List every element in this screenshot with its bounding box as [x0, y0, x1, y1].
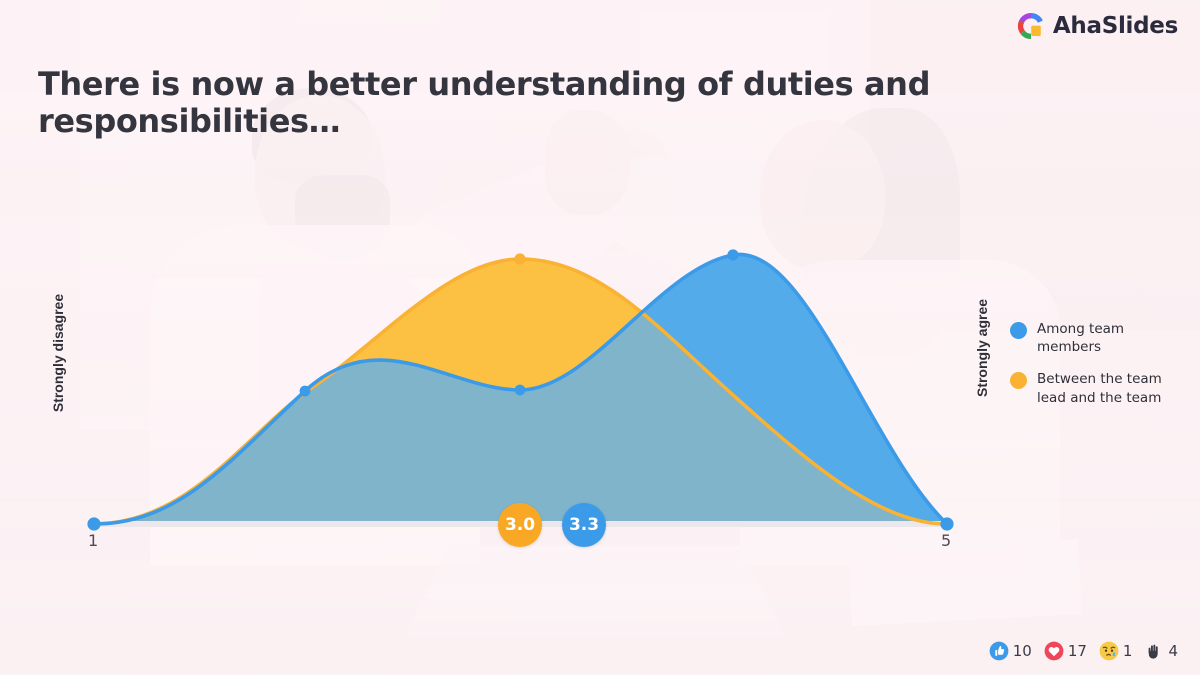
reaction-count: 1 [1123, 642, 1133, 660]
reaction-like[interactable]: 10 [989, 641, 1032, 661]
reaction-love[interactable]: 17 [1044, 641, 1087, 661]
reaction-bar: 10 17 1 [989, 641, 1178, 661]
raised-hand-icon [1144, 641, 1164, 661]
brand-name: AhaSlides [1053, 13, 1178, 39]
page-title: There is now a better understanding of d… [38, 66, 1140, 140]
legend-dot-blue-icon [1010, 322, 1027, 339]
axis-label-max: Strongly agree [974, 278, 990, 418]
x-tick-1: 1 [88, 531, 98, 550]
data-point-endpoint-right [940, 517, 953, 530]
reaction-count: 10 [1013, 642, 1032, 660]
legend-item-between-lead-and-team[interactable]: Between the team lead and the team [1010, 370, 1182, 406]
ahaslides-donut-logo-icon [1017, 12, 1045, 40]
score-badge-blue[interactable]: 3.3 [562, 503, 606, 547]
legend-label: Between the team lead and the team [1037, 370, 1182, 406]
brand-logo: AhaSlides [1017, 12, 1178, 40]
reaction-hand[interactable]: 4 [1144, 641, 1178, 661]
thumbs-up-icon [989, 641, 1009, 661]
data-point-blue-2 [300, 386, 311, 397]
data-point-blue-3 [515, 385, 526, 396]
legend-dot-orange-icon [1010, 372, 1027, 389]
data-point-blue-4 [727, 249, 738, 260]
reaction-sad[interactable]: 1 [1099, 641, 1133, 661]
score-badge-orange[interactable]: 3.0 [498, 503, 542, 547]
crying-face-icon [1099, 641, 1119, 661]
reaction-count: 17 [1068, 642, 1087, 660]
heart-icon [1044, 641, 1064, 661]
reaction-count: 4 [1168, 642, 1178, 660]
x-tick-5: 5 [941, 531, 951, 550]
slide-canvas: AhaSlides There is now a better understa… [0, 0, 1200, 675]
legend-item-among-team-members[interactable]: Among team members [1010, 320, 1182, 356]
axis-label-min: Strongly disagree [50, 283, 66, 423]
chart-legend: Among team members Between the team lead… [1010, 320, 1182, 407]
data-point-endpoint-left [87, 517, 100, 530]
legend-label: Among team members [1037, 320, 1182, 356]
data-point-orange-3 [514, 253, 525, 264]
